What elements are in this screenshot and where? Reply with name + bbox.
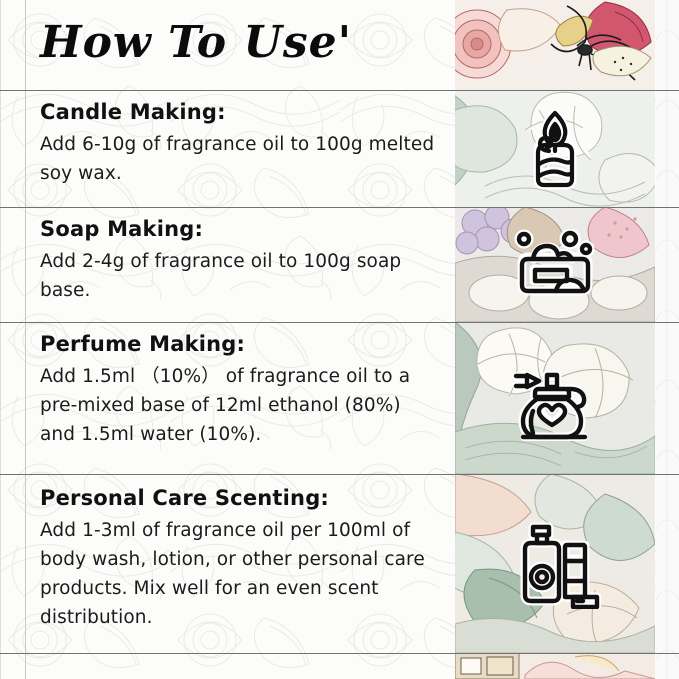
candle-icon xyxy=(455,90,655,207)
perfume-bottle-icon xyxy=(455,322,655,474)
section-heading-candle: Candle Making: xyxy=(40,100,440,124)
page-left-edge-rule xyxy=(0,0,1,679)
section-body-perfume: Add 1.5ml （10%） of fragrance oil to a pr… xyxy=(40,362,440,449)
section-body-candle: Add 6-10g of fragrance oil to 100g melte… xyxy=(40,130,440,188)
divider-care xyxy=(0,653,679,654)
left-margin-rule xyxy=(25,0,26,679)
divider-candle xyxy=(0,207,679,208)
section-candle-making: Candle Making: Add 6-10g of fragrance oi… xyxy=(40,100,440,188)
section-heading-soap: Soap Making: xyxy=(40,217,440,241)
section-body-soap: Add 2-4g of fragrance oil to 100g soap b… xyxy=(40,247,440,305)
section-perfume-making: Perfume Making: Add 1.5ml （10%） of fragr… xyxy=(40,332,440,449)
page-title: How To Use' xyxy=(40,8,440,83)
divider-title xyxy=(0,90,679,91)
personal-care-products-icon xyxy=(455,474,655,653)
section-personal-care-scenting: Personal Care Scenting: Add 1-3ml of fra… xyxy=(40,486,440,632)
soap-bar-icon xyxy=(455,207,655,322)
how-to-use-infographic: How To Use' Candle Making: Add 6-10g of … xyxy=(0,0,679,679)
bottom-illustration-band xyxy=(455,653,655,679)
section-body-care: Add 1-3ml of fragrance oil per 100ml of … xyxy=(40,516,440,632)
divider-soap xyxy=(0,322,679,323)
rose-butterfly-illustration xyxy=(455,0,655,90)
section-heading-perfume: Perfume Making: xyxy=(40,332,440,356)
right-edge-texture-strip xyxy=(656,0,679,679)
divider-perfume xyxy=(0,474,679,475)
section-soap-making: Soap Making: Add 2-4g of fragrance oil t… xyxy=(40,217,440,305)
section-heading-care: Personal Care Scenting: xyxy=(40,486,440,510)
